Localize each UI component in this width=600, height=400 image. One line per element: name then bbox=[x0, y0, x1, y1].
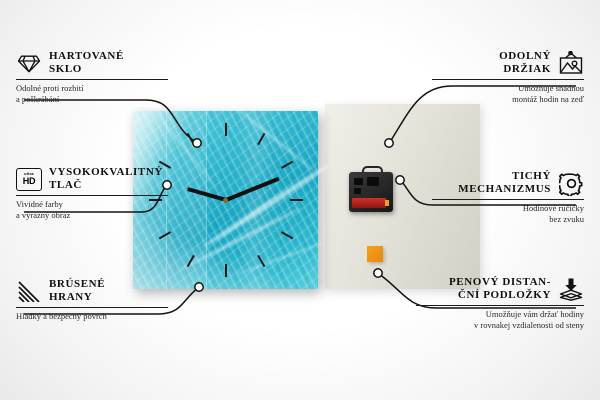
clock-mechanism bbox=[349, 172, 393, 212]
product-infographic: HARTOVANÉ SKLO Odolné proti rozbití a po… bbox=[0, 0, 600, 400]
mechanism-notch bbox=[354, 188, 361, 194]
feature-title-line1: VYSOKOKVALITNÝ bbox=[49, 166, 163, 178]
feature-title-line1: TICHÝ bbox=[512, 170, 551, 182]
feature-title-line1: HARTOVANÉ bbox=[49, 50, 124, 62]
feature-subtitle: Umožňuje snadnou montáž hodin na zeď bbox=[432, 83, 584, 104]
feature-subtitle-line2: montáž hodin na zeď bbox=[512, 94, 584, 104]
gear-icon bbox=[558, 171, 584, 195]
feature-divider bbox=[16, 307, 168, 308]
feature-divider bbox=[432, 199, 584, 200]
feature-subtitle-line2: bez zvuku bbox=[549, 214, 584, 224]
feature-title-line1: ODOLNÝ bbox=[499, 50, 551, 62]
feature-header: ultra HD VYSOKOKVALITNÝ TLAČ bbox=[16, 166, 168, 192]
feature-header: PENOVÝ DISTAN- ČNÍ PODLOŽKY bbox=[416, 276, 584, 302]
foam-spacer-pad bbox=[367, 246, 383, 262]
battery bbox=[352, 198, 386, 208]
ultra-hd-icon: ultra HD bbox=[16, 167, 42, 191]
mechanism-notch bbox=[367, 177, 379, 186]
feature-title: VYSOKOKVALITNÝ TLAČ bbox=[49, 166, 163, 192]
feature-subtitle: Umožňuje vám držať hodiny v rovnakej vzd… bbox=[416, 309, 584, 330]
feature-subtitle: Vividné farby a výrazný obraz bbox=[16, 199, 168, 220]
feature-beveled-edges[interactable]: BRÚSENÉ HRANY Hladký a bezpečný povrch bbox=[16, 278, 168, 322]
feature-divider bbox=[416, 305, 584, 306]
ultra-hd-icon-bottom-text: HD bbox=[23, 177, 35, 186]
feature-subtitle-line1: Umožňuje vám držať hodiny bbox=[486, 309, 584, 319]
feature-high-quality-print[interactable]: ultra HD VYSOKOKVALITNÝ TLAČ Vividné far… bbox=[16, 166, 168, 220]
feature-title-line1: PENOVÝ DISTAN- bbox=[449, 276, 551, 288]
foam-spacer-icon bbox=[558, 277, 584, 301]
feature-header: HARTOVANÉ SKLO bbox=[16, 50, 168, 76]
diamond-icon bbox=[16, 51, 42, 75]
feature-title-line2: SKLO bbox=[49, 63, 82, 75]
feature-title-line2: MECHANIZMUS bbox=[458, 183, 551, 195]
mechanism-notch bbox=[354, 178, 363, 185]
feature-divider bbox=[432, 79, 584, 80]
feature-foam-spacers[interactable]: PENOVÝ DISTAN- ČNÍ PODLOŽKY Umožňuje vám… bbox=[416, 276, 584, 330]
feature-title-line1: BRÚSENÉ bbox=[49, 278, 105, 290]
feature-silent-mechanism[interactable]: TICHÝ MECHANIZMUS Hodinové ručičky bez z… bbox=[432, 170, 584, 224]
feature-title-line2: DRŽIAK bbox=[503, 63, 551, 75]
feature-subtitle-line1: Hladký a bezpečný povrch bbox=[16, 311, 107, 321]
center-pin bbox=[223, 198, 228, 203]
picture-hanger-icon bbox=[558, 51, 584, 75]
feature-tempered-glass[interactable]: HARTOVANÉ SKLO Odolné proti rozbití a po… bbox=[16, 50, 168, 104]
feature-subtitle-line2: a poškrábání bbox=[16, 94, 59, 104]
feature-title-line2: TLAČ bbox=[49, 179, 82, 191]
feature-header: ODOLNÝ DRŽIAK bbox=[432, 50, 584, 76]
feature-subtitle: Hladký a bezpečný povrch bbox=[16, 311, 168, 322]
feature-title: PENOVÝ DISTAN- ČNÍ PODLOŽKY bbox=[449, 276, 551, 302]
feature-divider bbox=[16, 195, 168, 196]
feature-header: BRÚSENÉ HRANY bbox=[16, 278, 168, 304]
feature-title: HARTOVANÉ SKLO bbox=[49, 50, 124, 76]
beveled-edges-icon bbox=[16, 279, 42, 303]
feature-subtitle-line1: Odolné proti rozbití bbox=[16, 83, 84, 93]
feature-divider bbox=[16, 79, 168, 80]
hour-tick bbox=[225, 264, 227, 277]
feature-title-line2: HRANY bbox=[49, 291, 92, 303]
feature-subtitle: Odolné proti rozbití a poškrábání bbox=[16, 83, 168, 104]
feature-durable-hanger[interactable]: ODOLNÝ DRŽIAK Umožňuje snadnou montáž ho… bbox=[432, 50, 584, 104]
feature-subtitle-line2: a výrazný obraz bbox=[16, 210, 70, 220]
hour-tick bbox=[290, 199, 303, 201]
glass-pane-mid bbox=[166, 111, 207, 289]
feature-subtitle-line2: v rovnakej vzdialenosti od steny bbox=[474, 320, 584, 330]
feature-title: TICHÝ MECHANIZMUS bbox=[458, 170, 551, 196]
feature-title: BRÚSENÉ HRANY bbox=[49, 278, 105, 304]
feature-subtitle-line1: Vividné farby bbox=[16, 199, 63, 209]
feature-title-line2: ČNÍ PODLOŽKY bbox=[458, 289, 551, 301]
feature-title: ODOLNÝ DRŽIAK bbox=[499, 50, 551, 76]
feature-subtitle-line1: Umožňuje snadnou bbox=[518, 83, 584, 93]
hour-tick bbox=[225, 123, 227, 136]
feature-header: TICHÝ MECHANIZMUS bbox=[432, 170, 584, 196]
feature-subtitle: Hodinové ručičky bez zvuku bbox=[432, 203, 584, 224]
feature-subtitle-line1: Hodinové ručičky bbox=[523, 203, 584, 213]
